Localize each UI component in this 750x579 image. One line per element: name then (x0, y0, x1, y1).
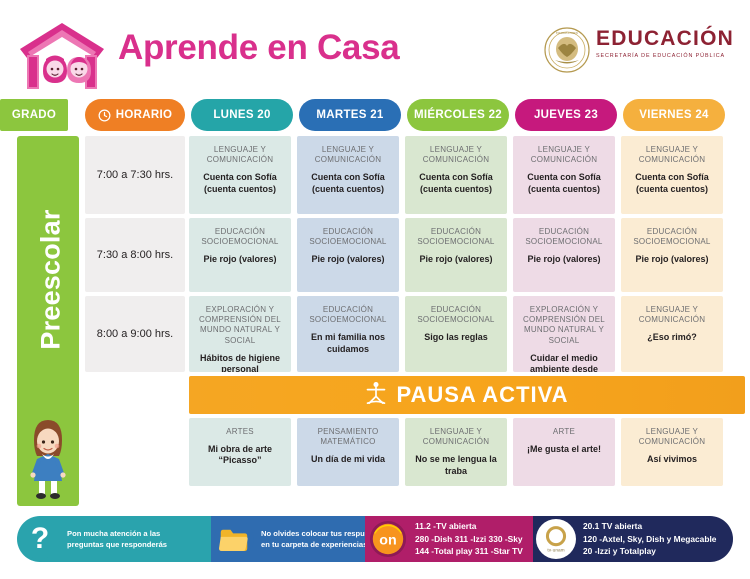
stretching-person-icon (365, 381, 387, 410)
schedule-cell[interactable]: EXPLORACIÓN Y COMPRENSIÓN DEL MUNDO NATU… (513, 296, 615, 372)
cell-topic: ¡Me gusta el arte! (519, 444, 609, 455)
cell-topic: En mi familia nos cuidamos (303, 332, 393, 355)
pausa-activa-row: PAUSA ACTIVA (85, 376, 745, 414)
cell-subject: EDUCACIÓN SOCIOEMOCIONAL (519, 227, 609, 247)
girl-student-illustration (23, 410, 73, 502)
cell-subject: EDUCACIÓN SOCIOEMOCIONAL (195, 227, 285, 247)
schedule-cell[interactable]: EDUCACIÓN SOCIOEMOCIONALPie rojo (valore… (189, 218, 291, 292)
column-header-label: LUNES 20 (213, 109, 270, 121)
footer-segment-once-tv[interactable]: on11.2 -TV abierta280 -Dish 311 -Izzi 33… (365, 516, 561, 562)
footer-text-line: Pon mucha atención a las (67, 528, 167, 539)
schedule-cell[interactable]: LENGUAJE Y COMUNICACIÓN¿Eso rimó? (621, 296, 723, 372)
cell-subject: EDUCACIÓN SOCIOEMOCIONAL (411, 227, 501, 247)
column-header-horario[interactable]: HORARIO (85, 99, 185, 131)
column-header-label: VIERNES 24 (639, 109, 708, 121)
grade-label: Preescolar (36, 136, 67, 430)
schedule-cell[interactable]: LENGUAJE Y COMUNICACIÓNCuenta con Sofía … (405, 136, 507, 214)
cell-topic: No se me lengua la traba (411, 454, 501, 477)
column-header-lunes-20[interactable]: LUNES 20 (191, 99, 293, 131)
cell-topic: Cuenta con Sofía (cuenta cuentos) (303, 172, 393, 195)
cell-subject: LENGUAJE Y COMUNICACIÓN (627, 427, 717, 447)
schedule-cell[interactable]: EDUCACIÓN SOCIOEMOCIONALPie rojo (valore… (621, 218, 723, 292)
cell-subject: EDUCACIÓN SOCIOEMOCIONAL (411, 305, 501, 325)
sep-title: EDUCACIÓN (596, 28, 734, 49)
time-slot-label: 7:00 a 7:30 hrs. (85, 136, 185, 214)
column-header-label: MIÉRCOLES 22 (414, 109, 502, 121)
column-header-jueves-23[interactable]: JUEVES 23 (515, 99, 617, 131)
cell-subject: LENGUAJE Y COMUNICACIÓN (195, 145, 285, 165)
cell-topic: Pie rojo (valores) (411, 254, 501, 265)
column-header-label: MARTES 21 (316, 109, 383, 121)
schedule-cell[interactable]: EDUCACIÓN SOCIOEMOCIONALSigo las reglas (405, 296, 507, 372)
schedule-row: 7:00 a 7:30 hrs.LENGUAJE Y COMUNICACIÓNC… (85, 136, 745, 214)
schedule-cell[interactable]: LENGUAJE Y COMUNICACIÓNCuenta con Sofía … (189, 136, 291, 214)
svg-text:ESTADOS UNIDOS: ESTADOS UNIDOS (556, 32, 578, 35)
footer-text-line: 11.2 -TV abierta (415, 520, 523, 533)
cell-topic: Pie rojo (valores) (195, 254, 285, 265)
schedule-cell[interactable]: LENGUAJE Y COMUNICACIÓNCuenta con Sofía … (513, 136, 615, 214)
tv-unam-logo-icon: tv·unam (536, 519, 576, 559)
column-header-label: HORARIO (116, 109, 172, 121)
column-header-grado[interactable]: GRADO (0, 99, 68, 131)
footer-segment-text: 11.2 -TV abierta280 -Dish 311 -Izzi 330 … (415, 520, 523, 558)
schedule-cell[interactable]: LENGUAJE Y COMUNICACIÓNNo se me lengua l… (405, 418, 507, 486)
cell-subject: EDUCACIÓN SOCIOEMOCIONAL (303, 305, 393, 325)
schedule-cell[interactable]: EDUCACIÓN SOCIOEMOCIONALPie rojo (valore… (405, 218, 507, 292)
column-header-label: GRADO (12, 109, 56, 121)
footer-text-line: 120 -Axtel, Sky, Dish y Megacable (583, 533, 716, 546)
cell-subject: LENGUAJE Y COMUNICACIÓN (627, 305, 717, 325)
column-header-mi-rcoles-22[interactable]: MIÉRCOLES 22 (407, 99, 509, 131)
schedule-cell[interactable]: LENGUAJE Y COMUNICACIÓNAsí vivimos (621, 418, 723, 486)
pausa-activa-banner[interactable]: PAUSA ACTIVA (189, 376, 745, 414)
schedule-cell[interactable]: ARTE¡Me gusta el arte! (513, 418, 615, 486)
cell-topic: Pie rojo (valores) (627, 254, 717, 265)
footer-segment-text: Pon mucha atención a laspreguntas que re… (67, 528, 167, 550)
cell-subject: EXPLORACIÓN Y COMPRENSIÓN DEL MUNDO NATU… (519, 305, 609, 346)
column-header-label: JUEVES 23 (534, 109, 598, 121)
footer-text-line: 280 -Dish 311 -Izzi 330 -Sky (415, 533, 523, 546)
cell-topic: Pie rojo (valores) (519, 254, 609, 265)
svg-text:tv·unam: tv·unam (547, 547, 564, 553)
cell-subject: EDUCACIÓN SOCIOEMOCIONAL (627, 227, 717, 247)
schedule-cell[interactable]: LENGUAJE Y COMUNICACIÓNCuenta con Sofía … (621, 136, 723, 214)
folder-icon (214, 519, 254, 559)
schedule-row: 7:30 a 8:00 hrs.EDUCACIÓN SOCIOEMOCIONAL… (85, 218, 745, 292)
time-slot-label: 8:00 a 9:00 hrs. (85, 296, 185, 372)
cell-subject: ARTE (519, 427, 609, 437)
schedule-cell[interactable]: EDUCACIÓN SOCIOEMOCIONALEn mi familia no… (297, 296, 399, 372)
pausa-activa-label: PAUSA ACTIVA (396, 382, 568, 408)
cell-topic: Cuidar el medio ambiente desde casa (519, 353, 609, 372)
schedule-cell[interactable]: ARTESMi obra de arte “Picasso” (189, 418, 291, 486)
cell-subject: LENGUAJE Y COMUNICACIÓN (303, 145, 393, 165)
cell-subject: PENSAMIENTO MATEMÁTICO (303, 427, 393, 447)
schedule-row: ARTESMi obra de arte “Picasso”PENSAMIENT… (85, 418, 745, 486)
time-slot-label: 7:30 a 8:00 hrs. (85, 218, 185, 292)
page-title: Aprende en Casa (118, 28, 399, 68)
cell-topic: Pie rojo (valores) (303, 254, 393, 265)
footer-text-line: 144 -Total play 311 -Star TV (415, 545, 523, 558)
cell-topic: Cuenta con Sofía (cuenta cuentos) (195, 172, 285, 195)
clock-icon (98, 109, 111, 122)
cell-subject: LENGUAJE Y COMUNICACIÓN (519, 145, 609, 165)
canal-once-logo-icon: on (368, 519, 408, 559)
cell-topic: Sigo las reglas (411, 332, 501, 343)
cell-topic: Hábitos de higiene personal (195, 353, 285, 372)
schedule-row: 8:00 a 9:00 hrs.EXPLORACIÓN Y COMPRENSIÓ… (85, 296, 745, 372)
mexico-eagle-seal-icon: ESTADOS UNIDOS (543, 26, 591, 74)
column-header-viernes-24[interactable]: VIERNES 24 (623, 99, 725, 131)
footer-segment-tv-unam[interactable]: tv·unam20.1 TV abierta120 -Axtel, Sky, D… (533, 516, 733, 562)
house-with-children-icon (16, 19, 108, 91)
footer-text-line: preguntas que responderás (67, 539, 167, 550)
schedule-cell[interactable]: EDUCACIÓN SOCIOEMOCIONALPie rojo (valore… (513, 218, 615, 292)
cell-topic: Cuenta con Sofía (cuenta cuentos) (519, 172, 609, 195)
cell-subject: LENGUAJE Y COMUNICACIÓN (411, 427, 501, 447)
footer-bar: ?Pon mucha atención a laspreguntas que r… (17, 516, 733, 562)
question-mark-icon: ? (20, 519, 60, 559)
page-header: Aprende en Casa ESTADOS UNIDOS EDUCACIÓN… (0, 0, 750, 96)
cell-subject: EXPLORACIÓN Y COMPRENSIÓN DEL MUNDO NATU… (195, 305, 285, 346)
cell-topic: ¿Eso rimó? (627, 332, 717, 343)
footer-text-line: 20.1 TV abierta (583, 520, 716, 533)
cell-subject: LENGUAJE Y COMUNICACIÓN (627, 145, 717, 165)
schedule-cell[interactable]: LENGUAJE Y COMUNICACIÓNCuenta con Sofía … (297, 136, 399, 214)
sep-logo: ESTADOS UNIDOS EDUCACIÓN SECRETARÍA DE E… (543, 24, 743, 76)
grade-column: Preescolar (17, 136, 79, 506)
cell-topic: Así vivimos (627, 454, 717, 465)
cell-subject: EDUCACIÓN SOCIOEMOCIONAL (303, 227, 393, 247)
cell-topic: Mi obra de arte “Picasso” (195, 444, 285, 467)
schedule-grid: 7:00 a 7:30 hrs.LENGUAJE Y COMUNICACIÓNC… (85, 136, 745, 490)
column-header-martes-21[interactable]: MARTES 21 (299, 99, 401, 131)
cell-subject: ARTES (195, 427, 285, 437)
schedule-cell[interactable]: EXPLORACIÓN Y COMPRENSIÓN DEL MUNDO NATU… (189, 296, 291, 372)
sep-subtitle: SECRETARÍA DE EDUCACIÓN PÚBLICA (596, 53, 734, 59)
aprende-en-casa-schedule: Aprende en Casa ESTADOS UNIDOS EDUCACIÓN… (0, 0, 750, 579)
footer-segment-text: 20.1 TV abierta120 -Axtel, Sky, Dish y M… (583, 520, 716, 558)
column-header-row: GRADOHORARIOLUNES 20MARTES 21MIÉRCOLES 2… (0, 99, 750, 132)
footer-text-line: 20 -Izzi y Totalplay (583, 545, 716, 558)
schedule-cell[interactable]: PENSAMIENTO MATEMÁTICOUn día de mi vida (297, 418, 399, 486)
cell-topic: Cuenta con Sofía (cuenta cuentos) (627, 172, 717, 195)
cell-topic: Cuenta con Sofía (cuenta cuentos) (411, 172, 501, 195)
footer-segment-attention[interactable]: ?Pon mucha atención a laspreguntas que r… (17, 516, 242, 562)
cell-subject: LENGUAJE Y COMUNICACIÓN (411, 145, 501, 165)
schedule-cell[interactable]: EDUCACIÓN SOCIOEMOCIONALPie rojo (valore… (297, 218, 399, 292)
svg-text:on: on (379, 533, 396, 549)
cell-topic: Un día de mi vida (303, 454, 393, 465)
